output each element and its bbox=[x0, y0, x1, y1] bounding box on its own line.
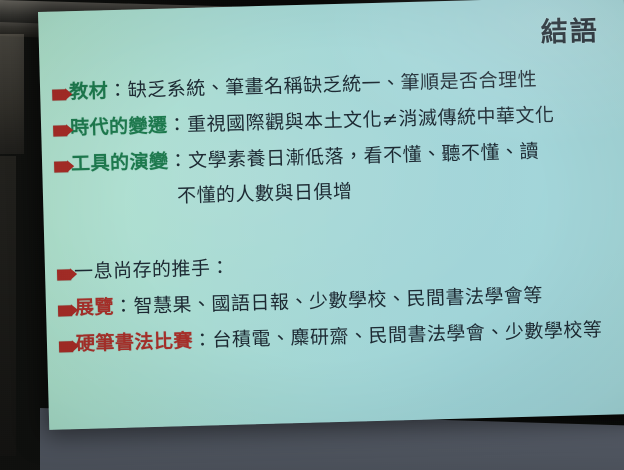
pennant-bullet-icon bbox=[54, 162, 68, 173]
bullet-line: 時代的變遷：重視國際觀與本土文化≠消滅傳統中華文化 bbox=[53, 103, 617, 141]
photograph: 結語 教材：缺乏系統、筆畫名稱缺乏統一、筆順是否合理性 時代的變遷：重視國際觀與… bbox=[0, 0, 624, 470]
bullet-line: 展覽：智慧果、國語日報、少數學校、民間書法學會等 bbox=[58, 282, 622, 320]
bullet-separator: ： bbox=[108, 80, 128, 103]
bullet-body: 台積電、麋研齋、民間書法學會、少數學校等 bbox=[212, 319, 602, 352]
bullet-separator: ： bbox=[114, 296, 134, 319]
pennant-bullet-icon bbox=[53, 125, 67, 136]
bullet-body: 缺乏系統、筆畫名稱缺乏統一、筆順是否合理性 bbox=[127, 69, 537, 102]
bullet-key: 教材 bbox=[69, 80, 109, 103]
bullet-body: 文學素養日漸低落，看不懂、聽不懂、讀 bbox=[188, 141, 539, 172]
pennant-bullet-icon bbox=[59, 342, 73, 353]
lower-bullet-block: 一息尚存的推手： 展覽：智慧果、國語日報、少數學校、民間書法學會等 硬筆書法比賽… bbox=[57, 246, 624, 370]
bullet-line: 一息尚存的推手： bbox=[57, 246, 621, 284]
slide-content: 結語 教材：缺乏系統、筆畫名稱缺乏統一、筆順是否合理性 時代的變遷：重視國際觀與… bbox=[38, 0, 624, 430]
bullet-line: 工具的演變：文學素養日漸低落，看不懂、聽不懂、讀 bbox=[54, 139, 618, 177]
bullet-line: 教材：缺乏系統、筆畫名稱缺乏統一、筆順是否合理性 bbox=[52, 66, 616, 104]
bullet-key: 硬筆書法比賽 bbox=[76, 330, 194, 355]
slide-title: 結語 bbox=[540, 9, 599, 50]
upper-bullet-block: 教材：缺乏系統、筆畫名稱缺乏統一、筆順是否合理性 時代的變遷：重視國際觀與本土文… bbox=[52, 66, 620, 224]
bullet-continuation-line: 不懂的人數與日俱增 bbox=[55, 173, 619, 211]
pennant-bullet-icon bbox=[57, 269, 71, 280]
pennant-bullet-icon bbox=[58, 305, 72, 316]
bullet-body: 重視國際觀與本土文化≠消滅傳統中華文化 bbox=[187, 104, 555, 136]
bullet-line: 硬筆書法比賽：台積電、麋研齋、民間書法學會、少數學校等 bbox=[59, 319, 623, 357]
bullet-separator: ： bbox=[193, 330, 213, 353]
bullet-key: 工具的演變 bbox=[71, 151, 169, 176]
bullet-key: 一息尚存的推手： bbox=[74, 257, 231, 283]
bullet-continuation: 不懂的人數與日俱增 bbox=[177, 180, 353, 208]
projection-screen: 結語 教材：缺乏系統、筆畫名稱缺乏統一、筆順是否合理性 時代的變遷：重視國際觀與… bbox=[38, 0, 624, 430]
bullet-separator: ： bbox=[168, 150, 188, 173]
wall-panel-lower bbox=[0, 156, 16, 456]
bullet-body: 智慧果、國語日報、少數學校、民間書法學會等 bbox=[133, 285, 543, 318]
wall-panel-upper bbox=[0, 34, 24, 154]
bullet-key: 展覽 bbox=[75, 296, 115, 319]
bullet-key: 時代的變遷 bbox=[70, 115, 168, 140]
bullet-separator: ： bbox=[167, 114, 187, 137]
pennant-bullet-icon bbox=[52, 89, 66, 100]
